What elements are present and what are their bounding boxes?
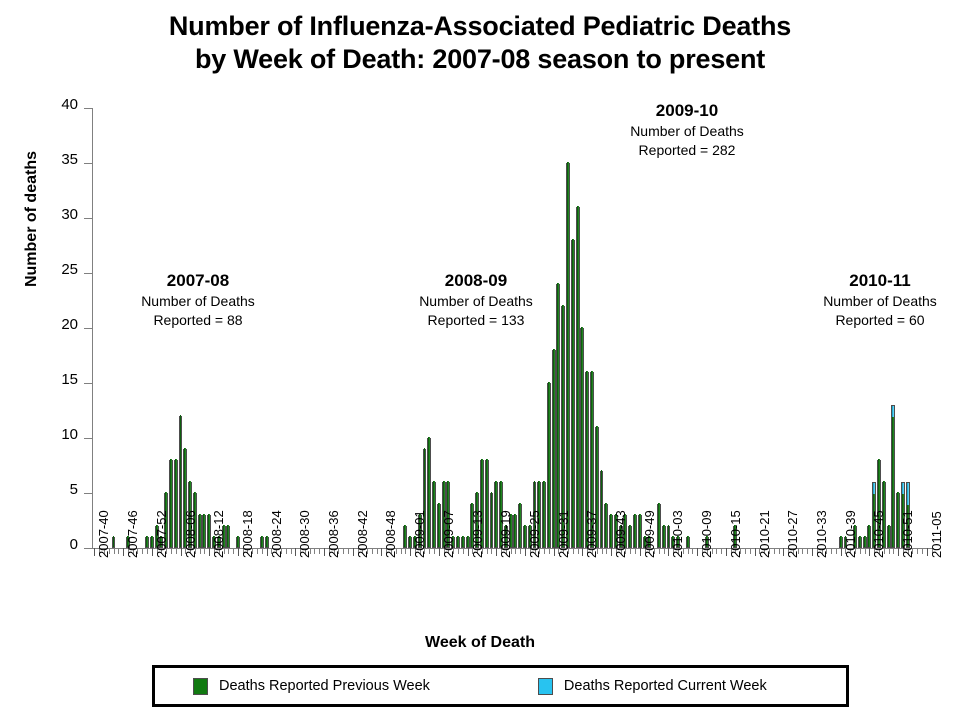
x-axis-tick-minor xyxy=(200,548,201,554)
annotation-line-2: Reported = 88 xyxy=(108,311,288,330)
bar-segment-previous-week xyxy=(486,459,488,547)
x-axis-tick-minor xyxy=(176,548,177,554)
x-axis-tick-minor xyxy=(831,548,832,554)
bar xyxy=(566,163,570,548)
x-axis-tick-minor xyxy=(745,548,746,554)
x-axis-tick-minor xyxy=(142,548,143,554)
bar xyxy=(174,460,178,548)
x-axis-tick-minor xyxy=(659,548,660,554)
x-axis-tick-label: 2008-18 xyxy=(243,510,253,558)
x-axis-tick-label: 2010-45 xyxy=(874,510,884,558)
y-axis-tick-label: 25 xyxy=(36,264,78,276)
y-axis-tick xyxy=(84,108,92,109)
x-axis-tick-minor xyxy=(860,548,861,554)
x-axis-title: Week of Death xyxy=(0,634,960,652)
x-axis-tick-label: 2010-27 xyxy=(788,510,798,558)
bar xyxy=(456,537,460,548)
bar xyxy=(260,537,264,548)
x-axis-tick-label: 2008-24 xyxy=(272,510,282,558)
bar-segment-previous-week xyxy=(634,514,636,547)
bar-segment-previous-week xyxy=(524,525,526,547)
x-axis-tick-minor xyxy=(401,548,402,554)
x-axis-tick-minor xyxy=(204,548,205,554)
bar-segment-previous-week xyxy=(663,525,665,547)
bar-segment-previous-week xyxy=(610,514,612,547)
x-axis-tick-label: 2009-31 xyxy=(559,510,569,558)
annotation-season-label: 2008-09 xyxy=(386,270,566,292)
annotation-season-label: 2009-10 xyxy=(592,100,782,122)
x-axis-tick-minor xyxy=(688,548,689,554)
bar-segment-previous-week xyxy=(577,206,579,547)
x-axis-tick-minor xyxy=(319,548,320,554)
x-axis-tick-minor xyxy=(171,548,172,554)
y-axis-tick xyxy=(84,328,92,329)
bar-segment-previous-week xyxy=(203,514,205,547)
bar xyxy=(863,537,867,548)
x-axis-tick-major xyxy=(324,548,325,556)
bar-segment-previous-week xyxy=(567,162,569,547)
x-axis-tick-minor xyxy=(893,548,894,554)
x-axis-tick-minor xyxy=(865,548,866,554)
x-axis-tick-minor xyxy=(520,548,521,554)
y-axis-tick-label: 10 xyxy=(36,429,78,441)
bar xyxy=(202,515,206,548)
bar-segment-previous-week xyxy=(629,525,631,547)
x-axis-tick-label: 2010-21 xyxy=(760,510,770,558)
y-axis-tick xyxy=(84,218,92,219)
x-axis-tick-major xyxy=(755,548,756,556)
x-axis-tick-minor xyxy=(836,548,837,554)
bar xyxy=(576,207,580,548)
x-axis-tick-minor xyxy=(286,548,287,554)
bar xyxy=(112,537,116,548)
bar xyxy=(686,537,690,548)
y-axis-tick-label: 40 xyxy=(36,99,78,111)
x-axis-tick-label: 2008-12 xyxy=(214,510,224,558)
y-axis-tick-label: 30 xyxy=(36,209,78,221)
x-axis-tick-minor xyxy=(917,548,918,554)
bar xyxy=(604,504,608,548)
bar xyxy=(198,515,202,548)
bar xyxy=(169,460,173,548)
y-axis-tick-label: 5 xyxy=(36,484,78,496)
x-axis-tick-minor xyxy=(487,548,488,554)
bar-segment-current-week xyxy=(873,483,875,494)
bar xyxy=(891,405,895,548)
bar-segment-previous-week xyxy=(467,536,469,547)
x-axis-tick-label: 2009-19 xyxy=(501,510,511,558)
bar-segment-previous-week xyxy=(113,536,115,547)
x-axis-tick-major xyxy=(439,548,440,556)
bar-segment-previous-week xyxy=(548,382,550,547)
x-axis-tick-minor xyxy=(544,548,545,554)
chart-title-line-1: Number of Influenza-Associated Pediatric… xyxy=(0,10,960,43)
x-axis-tick-minor xyxy=(779,548,780,554)
annotation-line-1: Number of Deaths xyxy=(108,292,288,311)
x-axis-tick-minor xyxy=(721,548,722,554)
bar-segment-previous-week xyxy=(553,349,555,547)
x-axis-tick-minor xyxy=(549,548,550,554)
bar-segment-previous-week xyxy=(601,470,603,547)
x-axis-tick-major xyxy=(123,548,124,556)
bar-segment-previous-week xyxy=(514,514,516,547)
x-axis-tick-minor xyxy=(429,548,430,554)
x-axis-tick-major xyxy=(410,548,411,556)
x-axis-tick-minor xyxy=(118,548,119,554)
bar-segment-previous-week xyxy=(261,536,263,547)
bar-segment-previous-week xyxy=(840,536,842,547)
annotation-line-2: Reported = 282 xyxy=(592,141,782,160)
bar-segment-previous-week xyxy=(462,536,464,547)
legend-swatch-blue xyxy=(538,678,553,695)
x-axis-tick-label: 2009-49 xyxy=(645,510,655,558)
x-axis-tick-label: 2008-48 xyxy=(386,510,396,558)
bar-segment-previous-week xyxy=(605,503,607,547)
x-axis-tick-minor xyxy=(635,548,636,554)
bar-segment-current-week xyxy=(907,483,909,505)
bar xyxy=(226,526,230,548)
x-axis-tick-major xyxy=(238,548,239,556)
bar xyxy=(466,537,470,548)
x-axis-tick-major xyxy=(554,548,555,556)
x-axis-tick-minor xyxy=(802,548,803,554)
x-axis-tick-label: 2010-51 xyxy=(903,510,913,558)
x-axis-tick-major xyxy=(812,548,813,556)
bar-segment-current-week xyxy=(902,483,904,494)
y-axis-tick-label: 15 xyxy=(36,374,78,386)
x-axis-tick-major xyxy=(152,548,153,556)
y-axis-tick-label: 0 xyxy=(36,539,78,551)
y-axis-tick-label: 35 xyxy=(36,154,78,166)
bar xyxy=(461,537,465,548)
bar-segment-previous-week xyxy=(180,415,182,547)
x-axis-tick-minor xyxy=(774,548,775,554)
bar-segment-previous-week xyxy=(572,239,574,547)
x-axis-labels: 2007-402007-462007-522008-062008-122008-… xyxy=(92,556,934,626)
bar-segment-previous-week xyxy=(658,503,660,547)
bar-segment-previous-week xyxy=(227,525,229,547)
x-axis-tick-minor xyxy=(602,548,603,554)
x-axis-tick-minor xyxy=(372,548,373,554)
bar xyxy=(662,526,666,548)
y-axis-tick xyxy=(84,548,92,549)
bar-segment-previous-week xyxy=(404,525,406,547)
bar xyxy=(571,240,575,548)
x-axis-tick-minor xyxy=(664,548,665,554)
bar-segment-previous-week xyxy=(151,536,153,547)
x-axis-tick-major xyxy=(640,548,641,556)
annotation-2009-10: 2009-10 Number of Deaths Reported = 282 xyxy=(592,100,782,160)
bar-segment-previous-week xyxy=(433,481,435,547)
x-axis-tick-major xyxy=(353,548,354,556)
x-axis-tick-minor xyxy=(458,548,459,554)
x-axis-tick-minor xyxy=(314,548,315,554)
bar-segment-previous-week xyxy=(864,536,866,547)
x-axis-tick-minor xyxy=(257,548,258,554)
bar xyxy=(657,504,661,548)
x-axis-tick-major xyxy=(181,548,182,556)
bar xyxy=(179,416,183,548)
legend: Deaths Reported Previous Week Deaths Rep… xyxy=(152,665,849,707)
bar-segment-previous-week xyxy=(639,514,641,547)
x-axis-tick-minor xyxy=(606,548,607,554)
bar xyxy=(513,515,517,548)
bar-segment-previous-week xyxy=(199,514,201,547)
annotation-line-2: Reported = 133 xyxy=(386,311,566,330)
y-axis-tick xyxy=(84,273,92,274)
x-axis-tick-label: 2009-07 xyxy=(444,510,454,558)
bar-segment-previous-week xyxy=(859,536,861,547)
x-axis-tick-minor xyxy=(114,548,115,554)
annotation-season-label: 2007-08 xyxy=(108,270,288,292)
chart-title-line-2: by Week of Death: 2007-08 season to pres… xyxy=(0,43,960,76)
x-axis-tick-minor xyxy=(573,548,574,554)
chart-canvas: Number of Influenza-Associated Pediatric… xyxy=(0,0,960,720)
bar xyxy=(887,526,891,548)
bar xyxy=(858,537,862,548)
x-axis-tick-label: 2008-36 xyxy=(329,510,339,558)
x-axis-tick-major xyxy=(898,548,899,556)
annotation-line-1: Number of Deaths xyxy=(592,122,782,141)
x-axis-tick-minor xyxy=(262,548,263,554)
bar-segment-previous-week xyxy=(428,437,430,547)
x-axis-tick-label: 2010-39 xyxy=(846,510,856,558)
x-axis-tick-minor xyxy=(434,548,435,554)
x-axis-tick-minor xyxy=(291,548,292,554)
bar xyxy=(403,526,407,548)
x-axis-tick-label: 2007-46 xyxy=(128,510,138,558)
bar-segment-previous-week xyxy=(543,481,545,547)
bar-segment-previous-week xyxy=(208,514,210,547)
annotation-line-1: Number of Deaths xyxy=(386,292,566,311)
x-axis-tick-label: 2007-52 xyxy=(157,510,167,558)
bar xyxy=(633,515,637,548)
bar-segment-previous-week xyxy=(888,525,890,547)
y-axis-tick xyxy=(84,383,92,384)
x-axis-tick-major xyxy=(611,548,612,556)
bar-segment-current-week xyxy=(892,406,894,417)
x-axis-tick-minor xyxy=(233,548,234,554)
y-axis-tick xyxy=(84,163,92,164)
x-axis-tick-label: 2008-42 xyxy=(358,510,368,558)
x-axis-tick-minor xyxy=(922,548,923,554)
bar xyxy=(600,471,604,548)
annotation-season-label: 2010-11 xyxy=(790,270,960,292)
annotation-2008-09: 2008-09 Number of Deaths Reported = 133 xyxy=(386,270,566,330)
x-axis-tick-label: 2010-09 xyxy=(702,510,712,558)
bar xyxy=(542,482,546,548)
x-axis-tick-minor xyxy=(348,548,349,554)
y-axis-tick-label: 20 xyxy=(36,319,78,331)
bar xyxy=(432,482,436,548)
x-axis-tick-minor xyxy=(630,548,631,554)
y-axis-tick xyxy=(84,438,92,439)
x-axis-tick-minor xyxy=(147,548,148,554)
bar-segment-previous-week xyxy=(438,503,440,547)
annotation-2010-11: 2010-11 Number of Deaths Reported = 60 xyxy=(790,270,960,330)
x-axis-tick-label: 2007-40 xyxy=(99,510,109,558)
x-axis-tick-major xyxy=(468,548,469,556)
bar-segment-previous-week xyxy=(491,492,493,547)
bar xyxy=(547,383,551,548)
bar-segment-previous-week xyxy=(519,503,521,547)
x-axis-tick-label: 2010-15 xyxy=(731,510,741,558)
bar-segment-previous-week xyxy=(237,536,239,547)
x-axis-tick-major xyxy=(726,548,727,556)
x-axis-tick-major xyxy=(841,548,842,556)
x-axis-tick-minor xyxy=(716,548,717,554)
y-axis-tick xyxy=(84,493,92,494)
x-axis-tick-minor xyxy=(377,548,378,554)
x-axis-tick-major xyxy=(525,548,526,556)
bar-segment-previous-week xyxy=(687,536,689,547)
x-axis-tick-minor xyxy=(515,548,516,554)
bar-segment-previous-week xyxy=(175,459,177,547)
x-axis-tick-minor xyxy=(692,548,693,554)
x-axis-tick-major xyxy=(927,548,928,556)
x-axis-tick-minor xyxy=(343,548,344,554)
x-axis-tick-minor xyxy=(750,548,751,554)
x-axis-tick-minor xyxy=(405,548,406,554)
bar xyxy=(427,438,431,548)
bar xyxy=(485,460,489,548)
bar xyxy=(145,537,149,548)
legend-label-previous-week: Deaths Reported Previous Week xyxy=(219,678,430,694)
x-axis-tick-minor xyxy=(491,548,492,554)
x-axis-tick-label: 2009-25 xyxy=(530,510,540,558)
annotation-2007-08: 2007-08 Number of Deaths Reported = 88 xyxy=(108,270,288,330)
x-axis-tick-label: 2008-30 xyxy=(300,510,310,558)
bar-segment-previous-week xyxy=(897,492,899,547)
bar xyxy=(628,526,632,548)
legend-item-current-week: Deaths Reported Current Week xyxy=(538,678,767,695)
bar-segment-previous-week xyxy=(892,415,894,547)
bar-segment-previous-week xyxy=(409,536,411,547)
x-axis-tick-label: 2009-13 xyxy=(473,510,483,558)
chart-title: Number of Influenza-Associated Pediatric… xyxy=(0,10,960,76)
x-axis-tick-label: 2008-06 xyxy=(186,510,196,558)
x-axis-tick-minor xyxy=(228,548,229,554)
x-axis-tick-label: 2010-03 xyxy=(673,510,683,558)
bar xyxy=(518,504,522,548)
legend-label-current-week: Deaths Reported Current Week xyxy=(564,678,767,694)
bar xyxy=(490,493,494,548)
x-axis-tick-label: 2011-05 xyxy=(932,511,942,558)
x-axis-tick-minor xyxy=(578,548,579,554)
x-axis-tick-minor xyxy=(807,548,808,554)
x-axis-tick-label: 2009-43 xyxy=(616,510,626,558)
x-axis-tick-label: 2010-33 xyxy=(817,510,827,558)
x-axis-tick-label: 2009-01 xyxy=(415,510,425,558)
bar-segment-previous-week xyxy=(146,536,148,547)
x-axis-tick-minor xyxy=(889,548,890,554)
x-axis-tick-minor xyxy=(463,548,464,554)
bar-segment-previous-week xyxy=(495,481,497,547)
x-axis-tick-major xyxy=(267,548,268,556)
annotation-line-1: Number of Deaths xyxy=(790,292,960,311)
bar xyxy=(265,537,269,548)
bar-segment-previous-week xyxy=(170,459,172,547)
annotation-line-2: Reported = 60 xyxy=(790,311,960,330)
x-axis-tick-label: 2009-37 xyxy=(587,510,597,558)
legend-item-previous-week: Deaths Reported Previous Week xyxy=(193,678,430,695)
bar-segment-previous-week xyxy=(457,536,459,547)
bar-segment-previous-week xyxy=(266,536,268,547)
legend-swatch-green xyxy=(193,678,208,695)
